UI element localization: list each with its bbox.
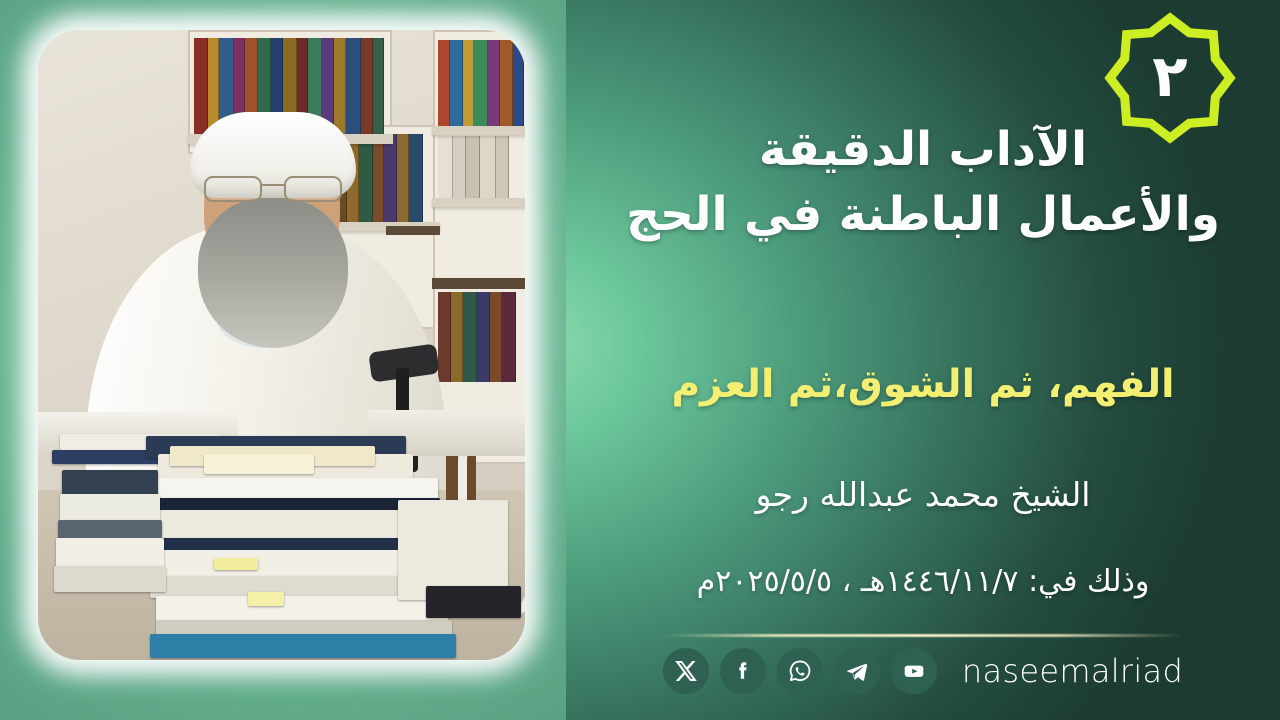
book-stack-item	[398, 500, 508, 600]
book-stack-item	[204, 454, 314, 474]
scholar-beard	[198, 198, 348, 348]
whatsapp-icon[interactable]	[777, 648, 823, 694]
books-shelf-row-3	[438, 40, 524, 126]
photo-scene	[38, 30, 525, 660]
x-twitter-icon[interactable]	[663, 648, 709, 694]
book-stack-item	[56, 538, 164, 568]
lecture-date: وذلك في: ١٤٤٦/١١/٧هـ ، ٢٠٢٥/٥/٥م	[566, 562, 1280, 601]
content-panel: ٢ الآداب الدقيقة والأعمال الباطنة في الح…	[566, 0, 1280, 720]
book-bookmark	[214, 558, 258, 570]
poster-subtitle: الفهم، ثم الشوق،ثم العزم	[566, 360, 1280, 411]
book-stack-item	[62, 470, 158, 496]
social-links-row: naseemalriad	[566, 648, 1280, 694]
speaker-name: الشيخ محمد عبدالله رجو	[566, 474, 1280, 517]
book-stack-item	[54, 566, 166, 592]
speaker-photo	[38, 30, 525, 660]
books-shelf-row-5	[438, 292, 524, 382]
shelf-board-4	[432, 198, 525, 207]
title-line-1: الآداب الدقيقة	[566, 118, 1280, 183]
photo-panel	[0, 0, 566, 720]
scholar-glasses	[202, 176, 344, 198]
poster-title: الآداب الدقيقة والأعمال الباطنة في الحج	[566, 118, 1280, 248]
text-block: الآداب الدقيقة والأعمال الباطنة في الحج …	[566, 0, 1280, 720]
books-shelf-row-4	[438, 136, 524, 198]
telegram-icon[interactable]	[834, 648, 880, 694]
book-stack-item	[426, 586, 521, 618]
footer-divider	[664, 634, 1184, 637]
shelf-divider-dark	[386, 226, 440, 235]
lecture-poster: ٢ الآداب الدقيقة والأعمال الباطنة في الح…	[0, 0, 1280, 720]
book-stack-item	[60, 494, 160, 522]
facebook-icon[interactable]	[720, 648, 766, 694]
title-line-2: والأعمال الباطنة في الحج	[566, 183, 1280, 248]
shelf-board-3	[432, 126, 525, 135]
glasses-lens-right	[284, 176, 342, 202]
book-stack-item	[58, 520, 162, 540]
book-bookmark	[248, 592, 284, 606]
social-handle[interactable]: naseemalriad	[962, 652, 1183, 690]
youtube-icon[interactable]	[891, 648, 937, 694]
glasses-lens-left	[204, 176, 262, 202]
book-stack-item	[150, 634, 456, 658]
shelf-divider-dark-2	[432, 278, 525, 289]
glasses-bridge	[260, 184, 286, 186]
